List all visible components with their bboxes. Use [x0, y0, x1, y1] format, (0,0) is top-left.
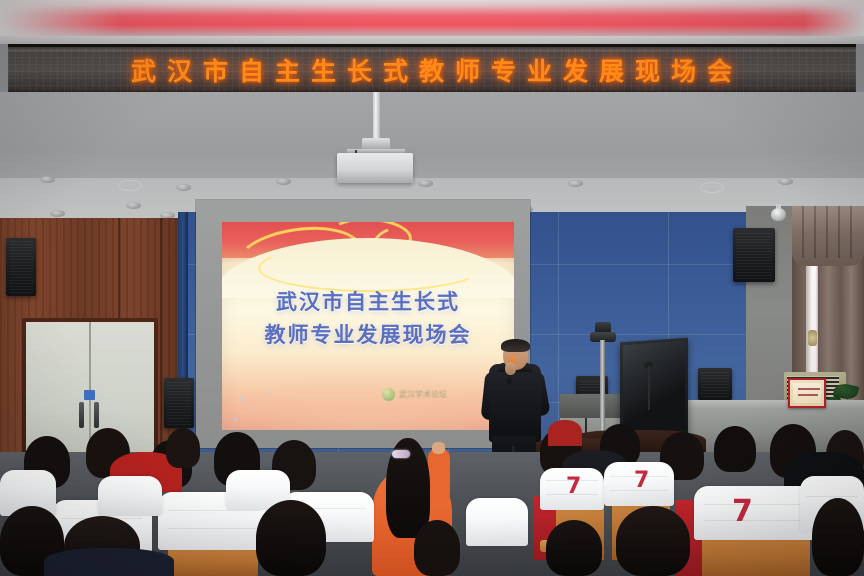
tv-monitor: [620, 338, 688, 439]
chair-cover[interactable]: [98, 476, 162, 516]
audience-head-foreground: [414, 520, 460, 576]
ceiling-downlight: [418, 180, 433, 187]
ceiling-lip: [0, 36, 864, 44]
audience-head-foreground: [812, 498, 864, 576]
door-handle-right[interactable]: [94, 402, 99, 428]
ceiling-downlight: [276, 178, 291, 185]
audience-hand: [432, 442, 445, 454]
audience-orange-arm: [428, 448, 450, 504]
ceiling-downlight: [778, 178, 793, 185]
ceiling-downlight: [568, 180, 583, 187]
led-banner-text: 武汉市自主生长式教师专业发展现场会: [8, 52, 856, 88]
audience-head-foreground: [256, 500, 326, 576]
door-sign-icon: [84, 390, 95, 400]
slide-title-line-2: 教师专业发展现场会: [222, 319, 514, 352]
desk-award-sign: [788, 378, 826, 408]
slide-title: 武汉市自主生长式 教师专业发展现场会: [222, 286, 514, 351]
wood-panel-seam: [160, 218, 162, 468]
audience-head-foreground: [616, 506, 690, 576]
seat-number: 7: [566, 474, 581, 499]
ceiling-glow-right: [804, 0, 864, 40]
ceiling-downlight: [176, 184, 191, 191]
ceiling-glow-left: [0, 0, 120, 40]
desk-award-sign-face: [793, 383, 821, 403]
slide-logo-icon: [382, 388, 395, 401]
audience-head-foreground: [546, 520, 602, 576]
seat-number: 7: [634, 468, 649, 493]
wall-speaker-stage: [698, 368, 732, 400]
curtain-tieback: [808, 330, 817, 346]
door-handle-left[interactable]: [79, 402, 84, 428]
ceiling-downlight: [118, 180, 142, 191]
microphone-stand: [648, 366, 650, 410]
audience-shoulders: [44, 548, 174, 576]
slide-ornament-arc: [258, 244, 482, 292]
ceiling-downlight: [40, 176, 55, 183]
wall-speaker-left-lower: [164, 378, 194, 428]
slide-logo: 武汉学术论坛: [382, 388, 447, 401]
wall-speaker-left: [6, 238, 36, 296]
conference-hall-scene: 武汉市自主生长式教师专业发展现场会: [0, 0, 864, 576]
ceiling-projector: [337, 153, 413, 183]
curtain-valance: [792, 206, 864, 266]
ceiling-downlight: [700, 182, 724, 193]
audience-red-coat: [548, 420, 582, 446]
audience-head: [714, 426, 756, 472]
seat-number: 7: [732, 494, 753, 529]
presenter-body: [489, 364, 541, 442]
dome-camera: [771, 208, 786, 221]
hair-clip: [392, 450, 410, 458]
ceiling-downlight: [126, 202, 141, 209]
projection-screen: 武汉市自主生长式 教师专业发展现场会 武汉学术论坛: [222, 222, 514, 430]
ceiling-cove-light: [0, 0, 864, 40]
wall-speaker-right: [733, 228, 775, 282]
slide-logo-text: 武汉学术论坛: [399, 389, 447, 400]
slide-title-line-1: 武汉市自主生长式: [222, 286, 514, 319]
ceiling-downlight: [50, 210, 65, 217]
presenter-hair: [501, 339, 530, 352]
led-banner: 武汉市自主生长式教师专业发展现场会: [8, 44, 856, 97]
audience-head: [166, 428, 200, 468]
chair-cover[interactable]: [466, 498, 528, 546]
presenter-hand: [505, 362, 516, 375]
